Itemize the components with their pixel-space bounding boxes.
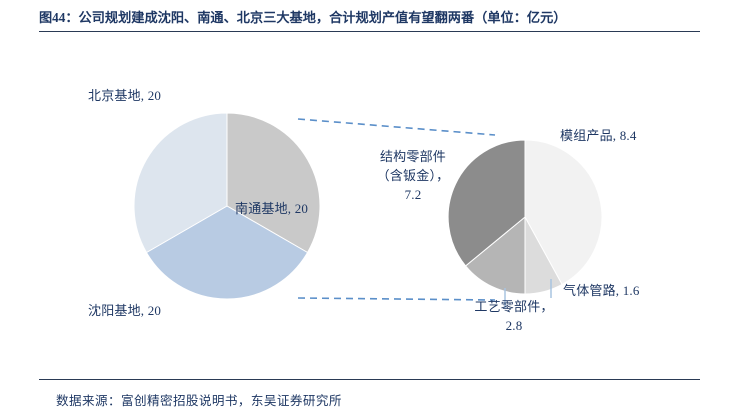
footer-divider — [39, 379, 700, 380]
pie-label-module: 模组产品, 8.4 — [560, 127, 637, 144]
pie-label-process: 工艺零部件， 2.8 — [459, 297, 569, 335]
pie-label-shenyang: 沈阳基地, 20 — [88, 302, 161, 319]
chart-area: 北京基地, 20 南通基地, 20 沈阳基地, 20 结构零部件 （含钣金）， … — [0, 36, 731, 376]
figure-container: 图44：公司规划建成沈阳、南通、北京三大基地，合计规划产值有望翻两番（单位：亿元… — [0, 0, 731, 411]
pie-label-gas: 气体管路, 1.6 — [563, 282, 640, 299]
pie-label-structure-line3: 7.2 — [405, 187, 422, 202]
pie-label-beijing: 北京基地, 20 — [88, 87, 161, 104]
pie-label-structure-line1: 结构零部件 — [380, 149, 446, 164]
pie-label-process-line1: 工艺零部件， — [474, 299, 553, 314]
title-divider — [39, 31, 700, 32]
pie-label-structure-line2: （含钣金）， — [377, 168, 450, 183]
figure-source: 数据来源：富创精密招股说明书，东吴证券研究所 — [56, 390, 342, 409]
pie-label-nantong: 南通基地, 20 — [235, 200, 308, 217]
figure-title: 图44：公司规划建成沈阳、南通、北京三大基地，合计规划产值有望翻两番（单位：亿元… — [39, 8, 700, 28]
pie-label-structure: 结构零部件 （含钣金）， 7.2 — [357, 147, 469, 204]
pie-label-process-line2: 2.8 — [506, 318, 523, 333]
connector-line-top — [298, 119, 495, 135]
